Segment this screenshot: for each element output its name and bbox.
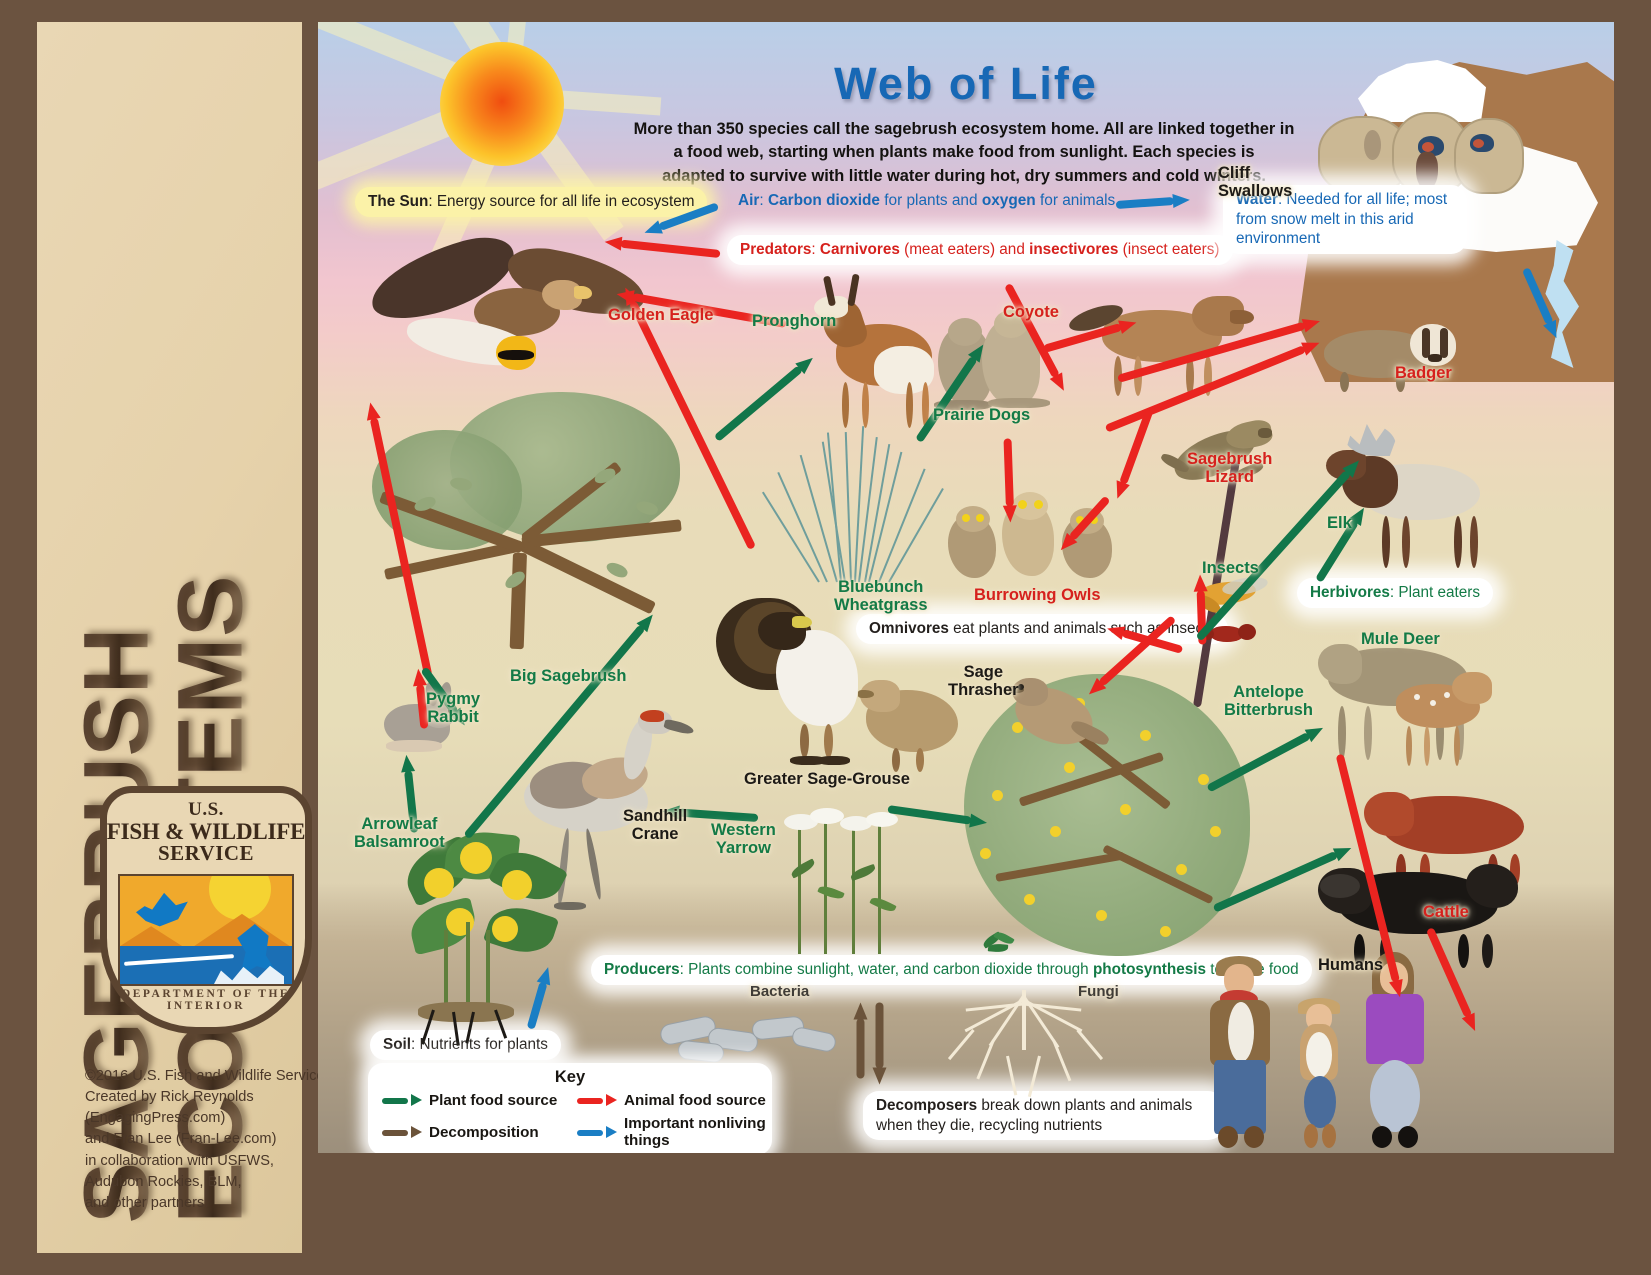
key-label-plant-food: Plant food source — [429, 1092, 557, 1109]
seal-text: U.S. FISH & WILDLIFE SERVICE — [100, 800, 312, 865]
web-of-life-illustration: Web of Life More than 350 species call t… — [318, 22, 1614, 1153]
label-mule-deer: Mule Deer — [1361, 630, 1440, 648]
air-mid-1: : — [759, 192, 768, 209]
page-title: Web of Life — [318, 58, 1614, 110]
label-insects: Insects — [1202, 559, 1259, 577]
key-entries: Plant food source Animal food source Dec… — [382, 1092, 772, 1149]
pred-mid-3: (insect eaters) — [1118, 241, 1219, 258]
seal-artwork — [118, 874, 294, 986]
arrow-air-right — [1116, 193, 1191, 211]
key-entry-animal-food: Animal food source — [577, 1092, 772, 1109]
title-side-panel: SAGEBRUSH ECOSYSTEMS U.S. FISH & WILDLIF… — [37, 22, 302, 1253]
label-sandhill-crane: Sandhill Crane — [623, 807, 687, 844]
pred-mid-1: : — [811, 241, 820, 258]
air-mid-3: for animals — [1036, 192, 1116, 209]
pred-bold-1: Predators — [740, 241, 811, 258]
label-sage-thrasher: Sage Thrasher — [948, 663, 1019, 700]
label-bacteria: Bacteria — [750, 984, 809, 1001]
key-entry-decomposition: Decomposition — [382, 1115, 577, 1149]
label-cliff-swallows: Cliff Swallows — [1218, 164, 1292, 201]
green-arrow-icon — [382, 1094, 422, 1107]
cliff-swallow-nests — [1318, 110, 1518, 192]
usfws-seal: U.S. FISH & WILDLIFE SERVICE DEPARTMENT … — [100, 786, 312, 1034]
seal-line-2: FISH & WILDLIFE — [100, 820, 312, 844]
label-greater-sage-grouse: Greater Sage-Grouse — [744, 770, 910, 788]
intro-line-1: More than 350 species call the sagebrush… — [618, 118, 1310, 141]
air-mid-2: for plants and — [880, 192, 982, 209]
elk-illustration — [1324, 422, 1504, 572]
air-bold-1: Air — [738, 192, 759, 209]
label-western-yarrow: Western Yarrow — [711, 821, 776, 858]
label-badger: Badger — [1395, 364, 1452, 382]
label-cattle: Cattle — [1423, 903, 1469, 921]
callout-predators: Predators: Carnivores (meat eaters) and … — [727, 235, 1233, 265]
herb-bold: Herbivores — [1310, 584, 1390, 601]
label-burrowing-owls: Burrowing Owls — [974, 586, 1101, 604]
air-bold-2: Carbon dioxide — [768, 192, 880, 209]
pred-mid-2: (meat eaters) and — [900, 241, 1029, 258]
key-label-nonliving: Important nonliving things — [624, 1115, 772, 1149]
vertical-title: SAGEBRUSH ECOSYSTEMS — [32, 28, 297, 1238]
arrow-decomposition-down — [874, 1003, 887, 1085]
pred-bold-2: Carnivores — [820, 241, 900, 258]
label-arrowleaf-balsamroot: Arrowleaf Balsamroot — [354, 815, 445, 852]
key-title: Key — [368, 1068, 772, 1087]
callout-herbivores: Herbivores: Plant eaters — [1297, 578, 1493, 608]
label-fungi: Fungi — [1078, 984, 1119, 1001]
key-label-animal-food: Animal food source — [624, 1092, 766, 1109]
credits-text: ©2016 U.S. Fish and Wildlife Service Cre… — [85, 1066, 325, 1214]
callout-the-sun: The Sun: Energy source for all life in e… — [355, 187, 707, 217]
label-coyote: Coyote — [1003, 303, 1059, 321]
label-pronghorn: Pronghorn — [752, 312, 836, 330]
intro-paragraph: More than 350 species call the sagebrush… — [618, 118, 1310, 188]
label-prairie-dogs: Prairie Dogs — [933, 406, 1030, 424]
label-bluebunch-wheatgrass: Bluebunch Wheatgrass — [834, 578, 928, 615]
bluebunch-wheatgrass-illustration — [788, 422, 918, 582]
bacteria-illustration — [656, 1004, 836, 1062]
air-bold-3: oxygen — [982, 192, 1036, 209]
sun-callout-bold: The Sun — [368, 193, 428, 210]
label-elk: Elk — [1327, 514, 1352, 532]
sprout-illustration — [978, 930, 1018, 964]
label-sagebrush-lizard: Sagebrush Lizard — [1187, 450, 1272, 487]
seal-line-1: U.S. — [100, 800, 312, 820]
label-golden-eagle: Golden Eagle — [608, 306, 713, 324]
seal-line-3: SERVICE — [100, 843, 312, 865]
arrow-prairiedog-to-owls — [1002, 438, 1018, 522]
herb-rest: : Plant eaters — [1390, 584, 1480, 601]
callout-air: Air: Carbon dioxide for plants and oxyge… — [738, 192, 1115, 210]
label-antelope-bitterbrush: Antelope Bitterbrush — [1224, 683, 1313, 720]
key-legend-box: Key Plant food source Animal food source… — [368, 1063, 772, 1153]
arrow-decomposition-up — [854, 1003, 867, 1079]
red-arrow-icon — [577, 1094, 617, 1107]
intro-line-2: a food web, starting when plants make fo… — [618, 141, 1310, 164]
key-label-decomposition: Decomposition — [429, 1124, 539, 1141]
sun-callout-rest: : Energy source for all life in ecosyste… — [428, 193, 694, 210]
intro-line-3: adapted to survive with little water dur… — [618, 165, 1310, 188]
poster-root: SAGEBRUSH ECOSYSTEMS U.S. FISH & WILDLIF… — [0, 0, 1651, 1275]
prod-bold-1: Producers — [604, 961, 680, 978]
label-humans: Humans — [1318, 956, 1383, 974]
brown-arrow-icon — [382, 1126, 422, 1139]
blue-arrow-icon — [577, 1126, 617, 1139]
key-entry-nonliving: Important nonliving things — [577, 1115, 772, 1149]
key-entry-plant-food: Plant food source — [382, 1092, 577, 1109]
western-yarrow-illustration — [758, 804, 918, 954]
seal-ring-text: DEPARTMENT OF THE INTERIOR — [100, 988, 312, 1012]
label-big-sagebrush: Big Sagebrush — [510, 667, 626, 685]
label-pygmy-rabbit: Pygmy Rabbit — [426, 690, 480, 727]
fungi-illustration — [936, 990, 1116, 1114]
pred-bold-3: insectivores — [1029, 241, 1118, 258]
